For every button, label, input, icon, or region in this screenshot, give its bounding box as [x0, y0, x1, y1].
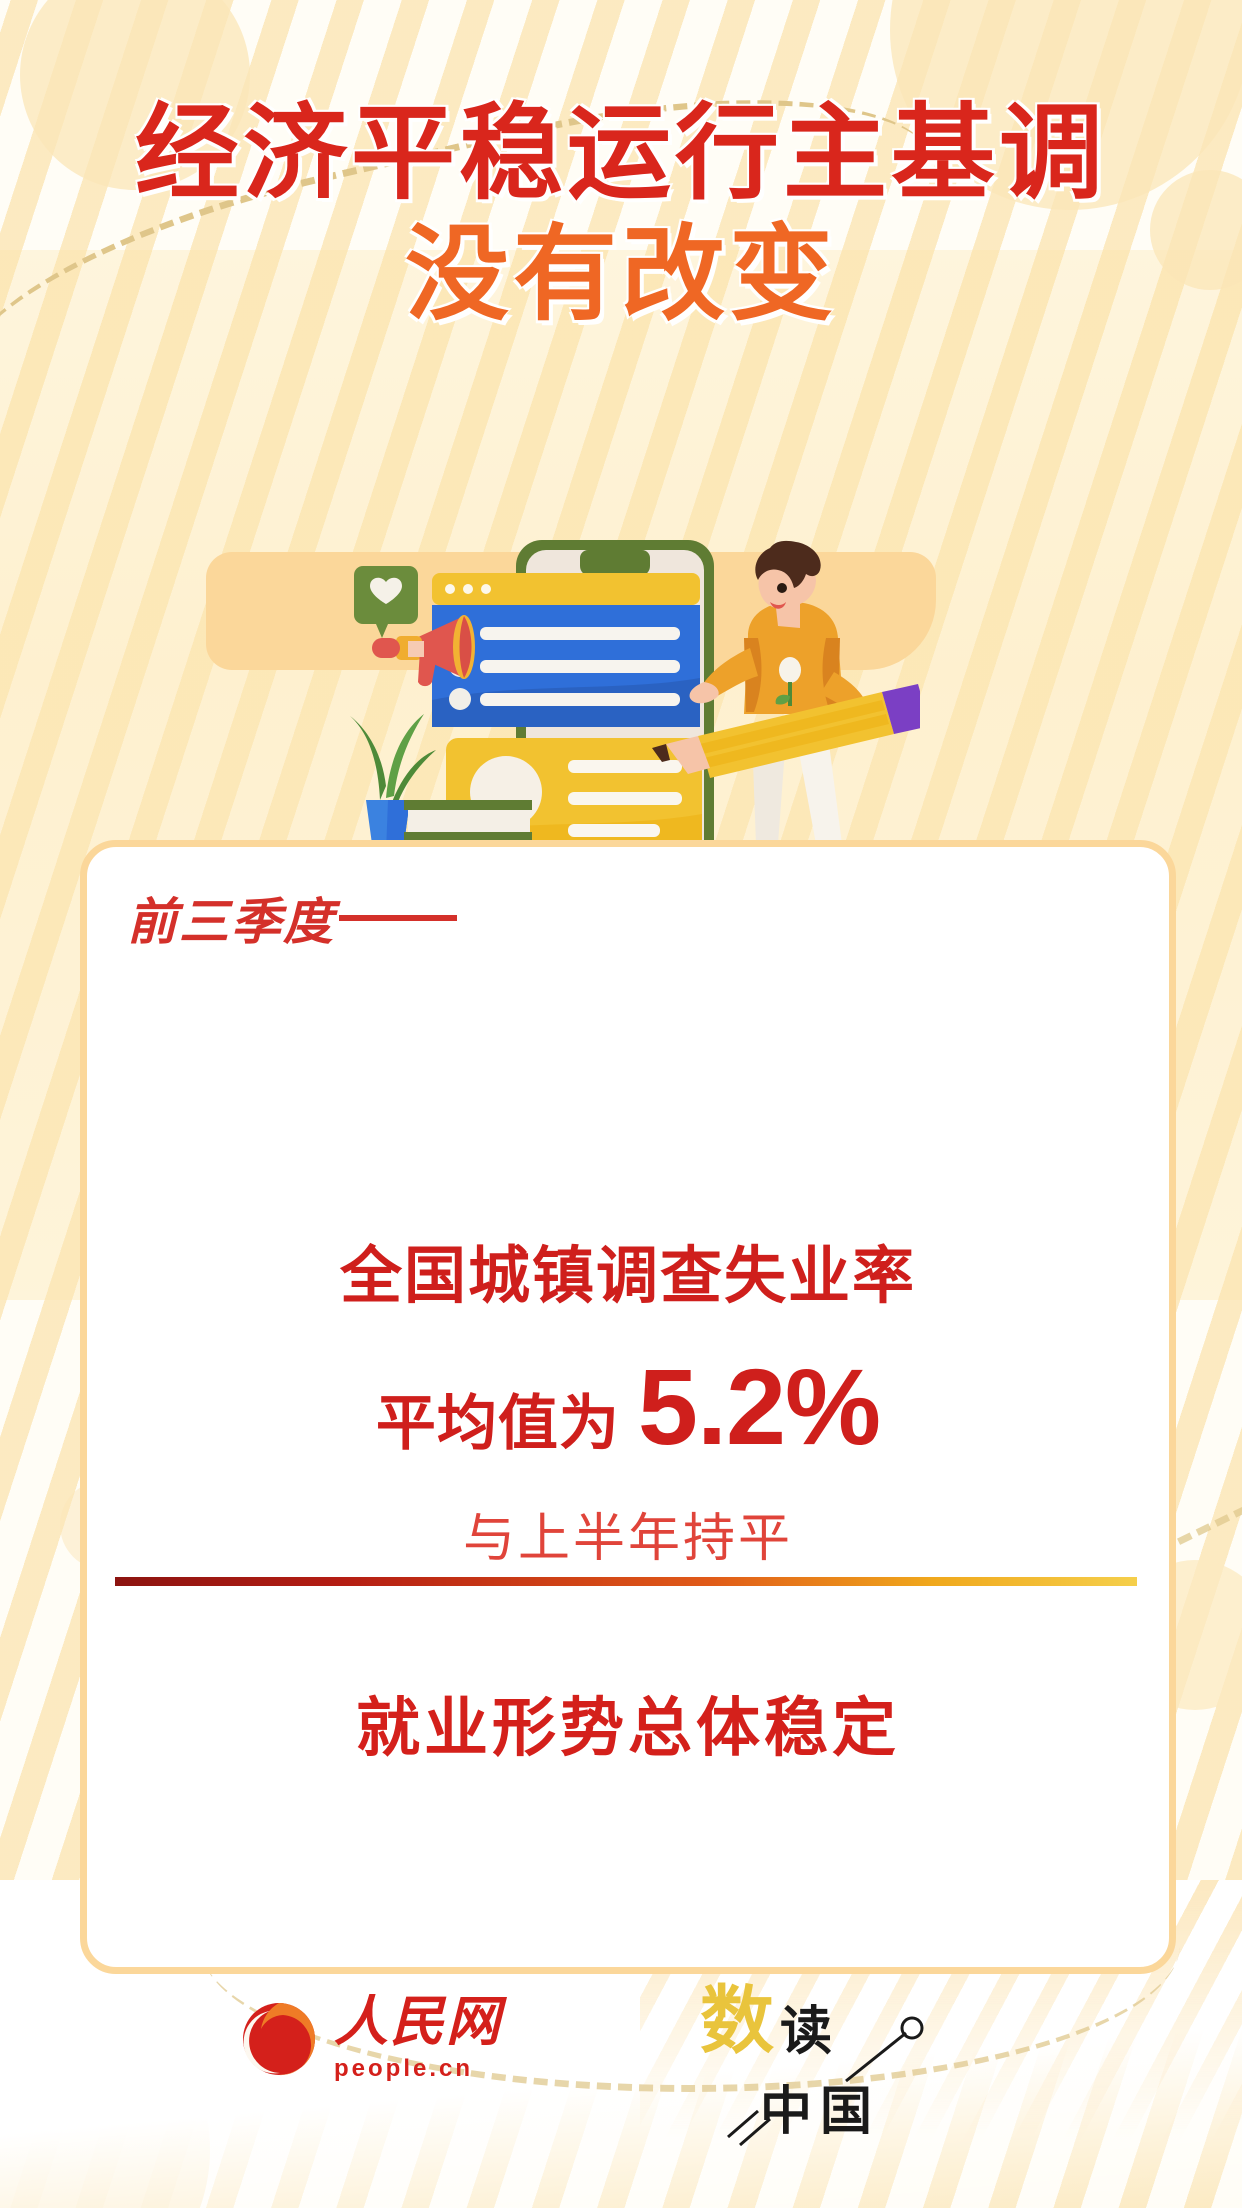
people-logo-cn: 人民网: [334, 1995, 502, 2049]
gradient-divider: [115, 1577, 1137, 1586]
title-line-1: 经济平稳运行主基调: [0, 96, 1242, 212]
shudu-logo-char-shu: 数: [700, 1985, 774, 2059]
period-label-rule: [339, 915, 457, 921]
stat-value-row: 平均值为 5.2%: [87, 1353, 1169, 1462]
stat-block: 全国城镇调查失业率 平均值为 5.2% 与上半年持平: [87, 1225, 1169, 1571]
megaphone-icon: [372, 615, 475, 686]
page-title: 经济平稳运行主基调 没有改变: [0, 96, 1242, 336]
shudu-logo-char-du: 读: [780, 2007, 832, 2059]
stat-subtext: 与上半年持平: [87, 1496, 1169, 1571]
stat-label: 平均值为: [376, 1375, 620, 1462]
closing-statement: 就业形势总体稳定: [87, 1677, 1169, 1769]
stat-value: 5.2%: [638, 1353, 880, 1461]
stat-heading: 全国城镇调查失业率: [87, 1225, 1169, 1315]
people-logo-text: 人民网 people.cn: [334, 1995, 502, 2081]
footer: 人民网 people.cn 数 读 中国: [0, 1985, 1242, 2165]
employment-illustration: [320, 510, 920, 870]
people-logo-en: people.cn: [334, 2057, 502, 2081]
shudu-zhongguo-logo: 数 读 中国: [700, 1985, 960, 2155]
shudu-logo-row-2: 中国: [760, 2069, 960, 2144]
shudu-logo-row-1: 数 读: [700, 1985, 960, 2059]
period-label: 前三季度: [127, 882, 457, 954]
stat-card: 前三季度 全国城镇调查失业率 平均值为 5.2% 与上半年持平 就业形势总体稳定: [80, 840, 1176, 1974]
period-label-text: 前三季度: [127, 882, 335, 954]
people-cn-logo: 人民网 people.cn: [240, 1995, 502, 2081]
heart-speech-bubble: [354, 566, 418, 638]
people-logo-mark-icon: [240, 1999, 318, 2077]
infographic-poster: 经济平稳运行主基调 没有改变 看就业: [0, 0, 1242, 2208]
title-line-2: 没有改变: [0, 216, 1242, 336]
